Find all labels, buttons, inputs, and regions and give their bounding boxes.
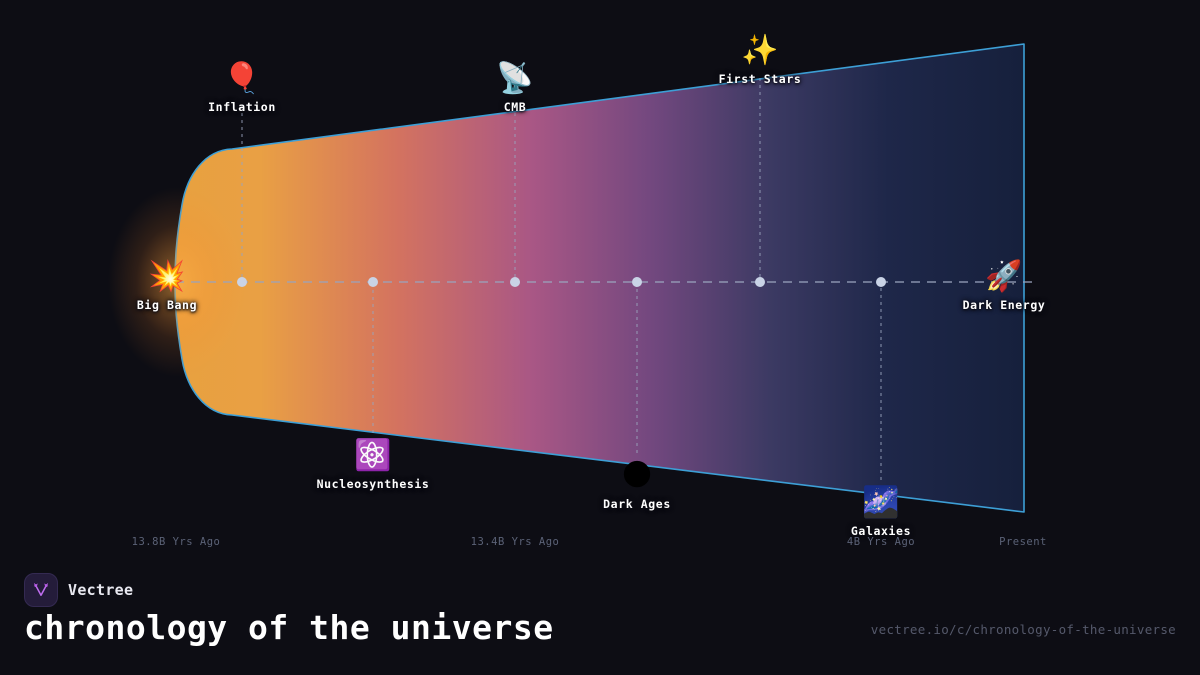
brand-block[interactable]: Vectree: [24, 573, 133, 607]
axis-label: 13.4B Yrs Ago: [471, 536, 560, 548]
milestone-nucleosynthesis[interactable]: ⚛️Nucleosynthesis: [317, 441, 430, 491]
brand-name: Vectree: [68, 581, 133, 599]
timeline-node[interactable]: [237, 277, 247, 287]
atom-symbol-icon: ⚛️: [354, 441, 391, 471]
timeline-node[interactable]: [632, 277, 642, 287]
diagram-canvas: 💥Big Bang🎈Inflation⚛️Nucleosynthesis📡CMB…: [0, 0, 1200, 675]
axis-label: 13.8B Yrs Ago: [132, 536, 221, 548]
rocket-icon: 🚀: [985, 262, 1022, 292]
timeline-node[interactable]: [510, 277, 520, 287]
timeline-node[interactable]: [876, 277, 886, 287]
sparkles-icon: ✨: [741, 36, 778, 66]
milestone-galaxies[interactable]: 🌌Galaxies: [851, 488, 911, 538]
milestone-label: First Stars: [719, 72, 802, 86]
milestone-label: CMB: [504, 100, 527, 114]
milestone-dark-energy[interactable]: 🚀Dark Energy: [963, 262, 1046, 312]
balloon-icon: 🎈: [223, 64, 260, 94]
footer-bar: Vectree chronology of the universe vectr…: [0, 560, 1200, 675]
milestone-label: Big Bang: [137, 298, 197, 312]
milky-way-icon: 🌌: [862, 488, 899, 518]
milestone-big-bang[interactable]: 💥Big Bang: [137, 262, 197, 312]
cone-shape: [175, 44, 1024, 512]
axis-label: 4B Yrs Ago: [847, 536, 915, 548]
satellite-dish-icon: 📡: [496, 64, 533, 94]
milestone-label: Inflation: [208, 100, 276, 114]
milestone-label: Dark Ages: [603, 497, 671, 511]
footer-url: vectree.io/c/chronology-of-the-universe: [871, 622, 1176, 637]
collision-icon: 💥: [148, 262, 185, 292]
vectree-glyph: [32, 581, 50, 599]
axis-label: Present: [999, 536, 1047, 548]
milestone-inflation[interactable]: 🎈Inflation: [208, 64, 276, 114]
milestone-label: Nucleosynthesis: [317, 477, 430, 491]
new-moon-icon: 🌑: [621, 461, 652, 491]
cosmic-timeline-diagram: 💥Big Bang🎈Inflation⚛️Nucleosynthesis📡CMB…: [0, 0, 1200, 560]
milestone-first-stars[interactable]: ✨First Stars: [719, 36, 802, 86]
vectree-logo-icon: [24, 573, 58, 607]
milestone-label: Dark Energy: [963, 298, 1046, 312]
timeline-node[interactable]: [755, 277, 765, 287]
milestone-cmb[interactable]: 📡CMB: [496, 64, 533, 114]
milestone-dark-ages[interactable]: 🌑Dark Ages: [603, 461, 671, 511]
timeline-node[interactable]: [368, 277, 378, 287]
page-title: chronology of the universe: [24, 608, 554, 647]
